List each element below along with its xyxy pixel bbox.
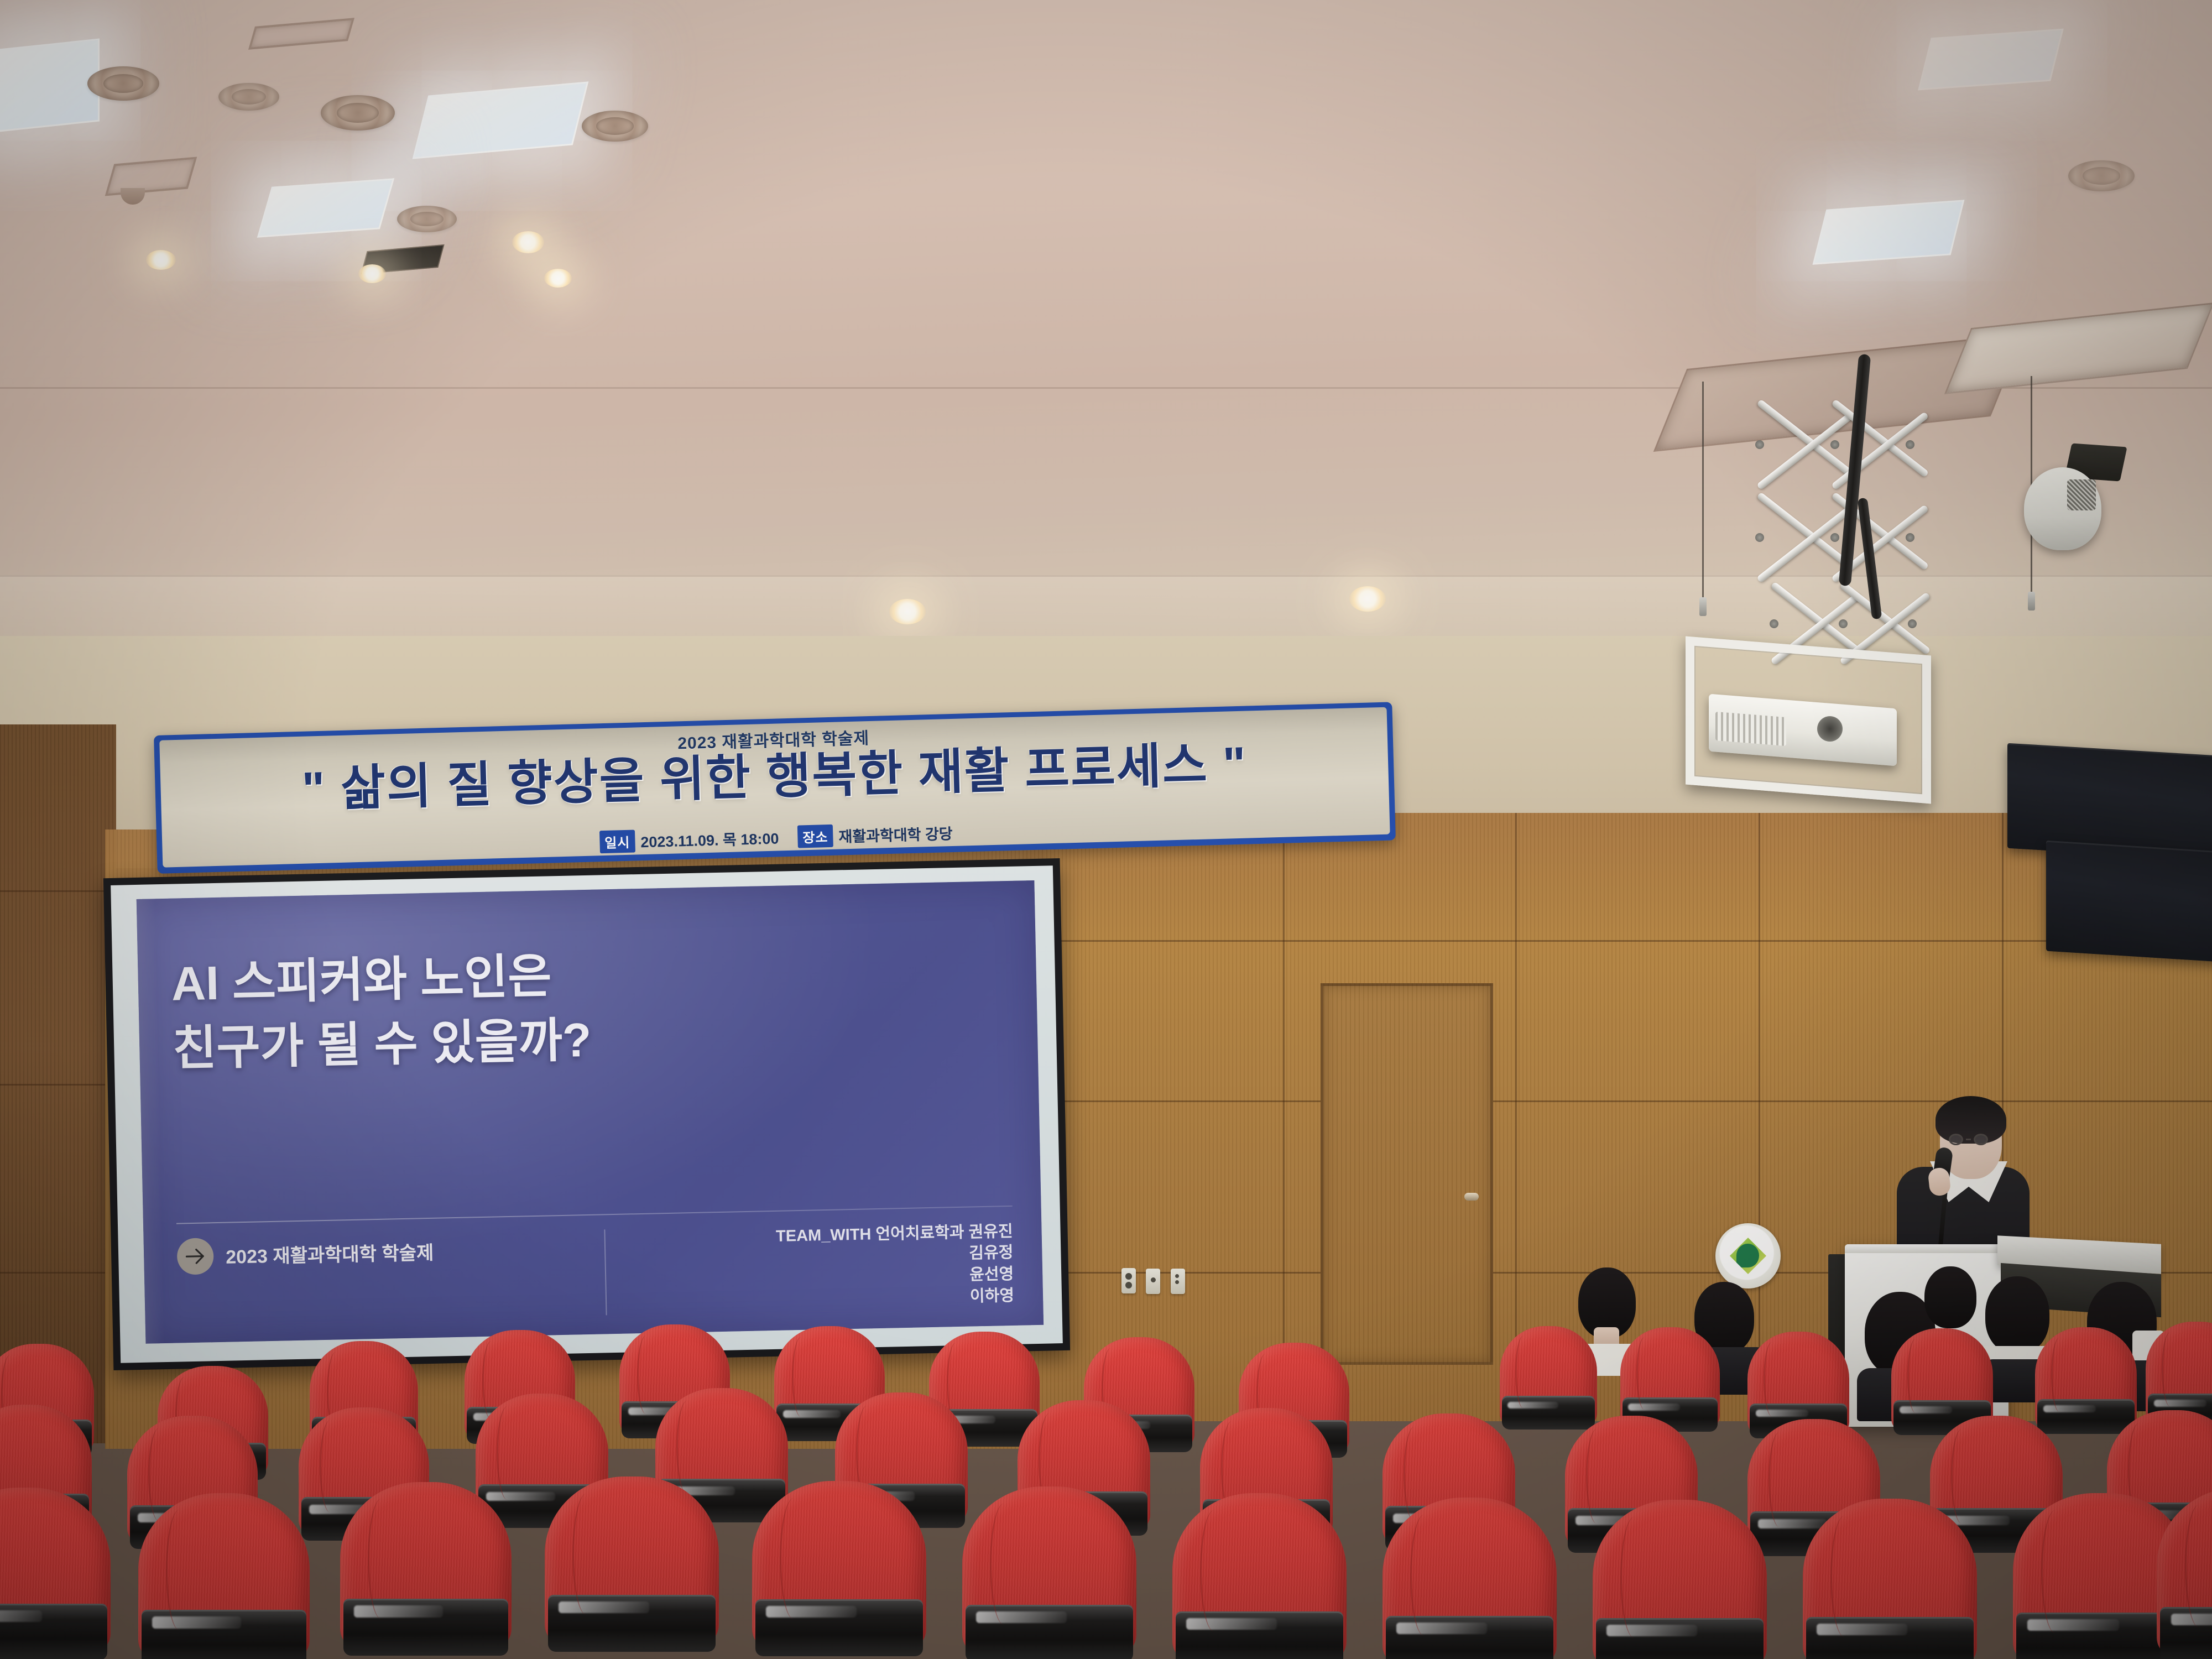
projector-lens-icon (1817, 716, 1843, 742)
banner-place-group: 장소 재활과학대학 강당 (797, 821, 953, 848)
recessed-downlight (512, 231, 544, 253)
slide-member-4: 이하영 (777, 1285, 1014, 1312)
wall-speaker (2007, 743, 2212, 861)
auditorium-seat[interactable] (2146, 1322, 2212, 1425)
recessed-downlight (1349, 586, 1386, 612)
wall-seam (1283, 813, 1285, 1421)
presenter-glasses-icon (1949, 1134, 1988, 1145)
side-door[interactable] (1321, 983, 1493, 1365)
slide-footer-divider (604, 1229, 607, 1315)
auditorium-seat[interactable] (0, 1488, 111, 1653)
ceiling-air-diffuser (87, 66, 159, 101)
slide-title-line1: AI 스피커와 노인은 (171, 937, 1008, 1014)
suspension-wire (1702, 382, 1704, 603)
banner-date-group: 일시 2023.11.09. 목 18:00 (599, 826, 779, 854)
banner-place-value: 재활과학대학 강당 (838, 822, 953, 847)
ceiling-speaker (2024, 467, 2101, 550)
banner-place-chip: 장소 (797, 825, 833, 848)
ceiling-panel-light (0, 38, 100, 133)
projection-screen: AI 스피커와 노인은 친구가 될 수 있을까? 2023 재활과학대학 학술제 (103, 858, 1070, 1370)
auditorium-seat[interactable] (1803, 1499, 1977, 1659)
auditorium-seat[interactable] (1593, 1500, 1767, 1659)
auditorium-seat[interactable] (1172, 1493, 1347, 1659)
slide-title-line2: 친구가 될 수 있을까? (172, 1002, 1009, 1078)
wall-seam (1023, 940, 2212, 942)
wall-seam (0, 890, 116, 892)
wall-seam (0, 1272, 116, 1274)
auditorium-seat[interactable] (138, 1493, 310, 1659)
banner-date-chip: 일시 (599, 830, 635, 854)
wall-data-plate[interactable] (1171, 1269, 1185, 1294)
door-knob-icon[interactable] (1464, 1193, 1479, 1201)
ceiling-air-diffuser (397, 206, 457, 232)
daegu-university-emblem (1715, 1223, 1781, 1288)
ceiling-panel-light (257, 178, 394, 238)
ceiling-air-diffuser (2068, 160, 2135, 191)
ceiling-air-diffuser (321, 95, 395, 131)
auditorium-seat[interactable] (752, 1481, 926, 1650)
auditorium-seat[interactable] (1500, 1326, 1597, 1426)
wire-tensioner (2028, 592, 2035, 611)
banner-main-title: " 삶의 질 향상을 위한 행복한 재활 프로세스 " (301, 740, 1248, 814)
wall-seam (0, 1084, 116, 1086)
banner-date-value: 2023.11.09. 목 18:00 (640, 827, 779, 852)
auditorium-seat[interactable] (1383, 1498, 1557, 1659)
wall-seam (1023, 1100, 2212, 1102)
ceiling-panel-light (1918, 29, 2064, 91)
recessed-downlight (889, 599, 926, 624)
auditorium-seat[interactable] (962, 1486, 1136, 1655)
wall-outlet-plate[interactable] (1146, 1269, 1160, 1294)
wall-outlet-plate[interactable] (1121, 1268, 1136, 1293)
auditorium-seat[interactable] (1620, 1327, 1720, 1428)
auditorium-seat[interactable] (340, 1482, 512, 1649)
arrow-right-icon (177, 1238, 214, 1275)
projector-vent (1715, 712, 1786, 746)
ceiling-air-diffuser (218, 83, 279, 111)
auditorium-scene: 2023 재활과학대학 학술제 " 삶의 질 향상을 위한 행복한 재활 프로세… (0, 0, 2212, 1659)
ceiling-panel-light (1813, 200, 1965, 264)
auditorium-seat[interactable] (2157, 1488, 2212, 1658)
wall-speaker (2046, 841, 2212, 963)
recessed-downlight (146, 250, 176, 270)
slide-footer-event: 2023 재활과학대학 학술제 (226, 1238, 434, 1269)
recessed-downlight (358, 264, 386, 283)
auditorium-seat[interactable] (545, 1477, 719, 1645)
wire-tensioner (1699, 597, 1707, 616)
recessed-downlight (544, 269, 572, 288)
presentation-slide: AI 스피커와 노인은 친구가 될 수 있을까? 2023 재활과학대학 학술제 (137, 880, 1044, 1344)
ceiling-air-diffuser (582, 111, 648, 142)
